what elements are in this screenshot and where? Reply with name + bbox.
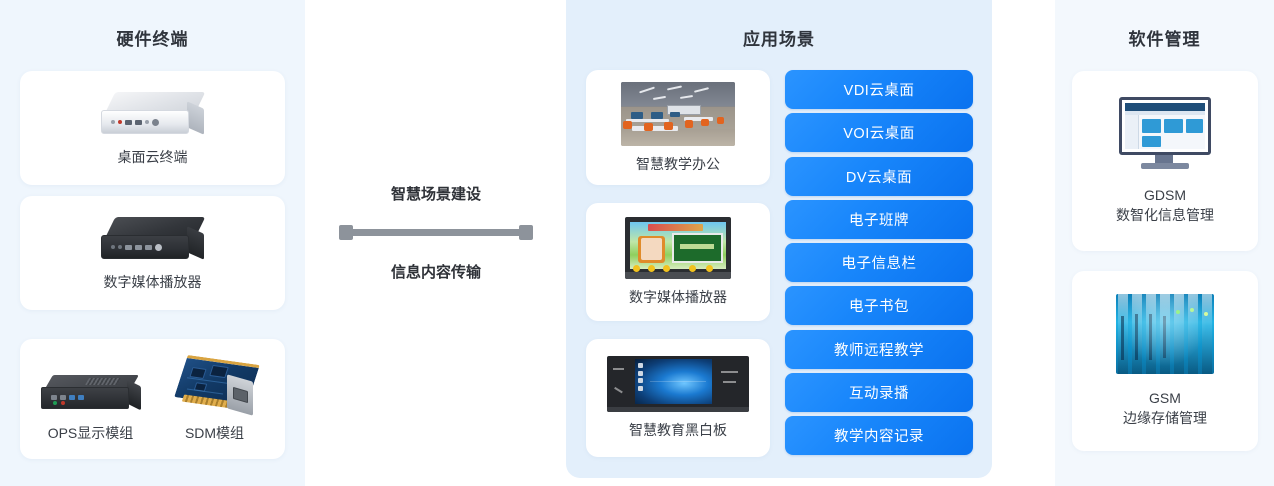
scenario-button-voi-cloud-desktop[interactable]: VOI云桌面 [785, 113, 973, 152]
black-mini-pc-icon [101, 215, 205, 267]
software-card-gsm[interactable]: GSM边缘存储管理 [1072, 271, 1258, 451]
connector-top-label: 智慧场景建设 [310, 183, 562, 204]
scenario-button-electronic-info-board[interactable]: 电子信息栏 [785, 243, 973, 282]
scenario-card-smart-teaching-office[interactable]: 智慧教学办公 [586, 70, 770, 185]
hardware-card-modules[interactable]: OPS显示模组 SDM模组 [20, 339, 285, 459]
scenario-button-teacher-remote-teaching[interactable]: 教师远程教学 [785, 330, 973, 369]
white-mini-pc-icon [101, 90, 205, 142]
hardware-module-ops[interactable]: OPS显示模组 [32, 372, 150, 443]
scenario-button-electronic-schoolbag[interactable]: 电子书包 [785, 286, 973, 325]
scenario-card-label: 智慧教学办公 [636, 155, 720, 174]
diagram-root: 硬件终端 桌面云终端 数字媒体播放器 [0, 0, 1274, 486]
smart-blackboard-photo [607, 356, 749, 412]
ops-module-icon [41, 372, 141, 418]
sdm-module-icon [171, 356, 259, 418]
software-management-title: 软件管理 [1055, 25, 1274, 50]
connector-cap-left [339, 225, 353, 240]
digital-signage-photo [625, 217, 731, 279]
hardware-module-label: OPS显示模组 [48, 424, 134, 443]
connector-bottom-label: 信息内容传输 [310, 261, 562, 282]
connector-bar [340, 229, 532, 236]
software-card-label: GDSM数智化信息管理 [1116, 185, 1214, 226]
hardware-module-label: SDM模组 [185, 424, 244, 443]
software-card-gdsm[interactable]: GDSM数智化信息管理 [1072, 71, 1258, 251]
scenario-card-digital-media-player[interactable]: 数字媒体播放器 [586, 203, 770, 321]
hardware-card-label: 数字媒体播放器 [104, 273, 202, 292]
scenario-card-smart-blackboard[interactable]: 智慧教育黑白板 [586, 339, 770, 457]
hardware-card-label: 桌面云终端 [118, 148, 188, 167]
scenario-card-label: 智慧教育黑白板 [629, 421, 727, 440]
scenario-button-electronic-class-card[interactable]: 电子班牌 [785, 200, 973, 239]
hardware-panel-title: 硬件终端 [0, 25, 305, 50]
software-card-name: GSM [1149, 390, 1181, 406]
hardware-card-desktop-cloud-terminal[interactable]: 桌面云终端 [20, 71, 285, 185]
scenario-card-label: 数字媒体播放器 [629, 288, 727, 307]
monitor-dashboard-icon [1119, 97, 1211, 171]
connector-cap-right [519, 225, 533, 240]
scenario-button-interactive-recording[interactable]: 互动录播 [785, 373, 973, 412]
scenario-button-dv-cloud-desktop[interactable]: DV云桌面 [785, 157, 973, 196]
scenario-button-vdi-cloud-desktop[interactable]: VDI云桌面 [785, 70, 973, 109]
scenario-button-teaching-content-record[interactable]: 教学内容记录 [785, 416, 973, 455]
software-card-name: GDSM [1144, 187, 1186, 203]
server-storage-icon [1116, 294, 1214, 374]
software-card-desc: 数智化信息管理 [1116, 207, 1214, 223]
software-card-label: GSM边缘存储管理 [1123, 388, 1207, 429]
application-scenarios-title: 应用场景 [566, 25, 992, 50]
hardware-module-sdm[interactable]: SDM模组 [156, 356, 274, 443]
software-card-desc: 边缘存储管理 [1123, 410, 1207, 426]
classroom-photo [621, 82, 735, 146]
hardware-card-digital-media-player[interactable]: 数字媒体播放器 [20, 196, 285, 310]
